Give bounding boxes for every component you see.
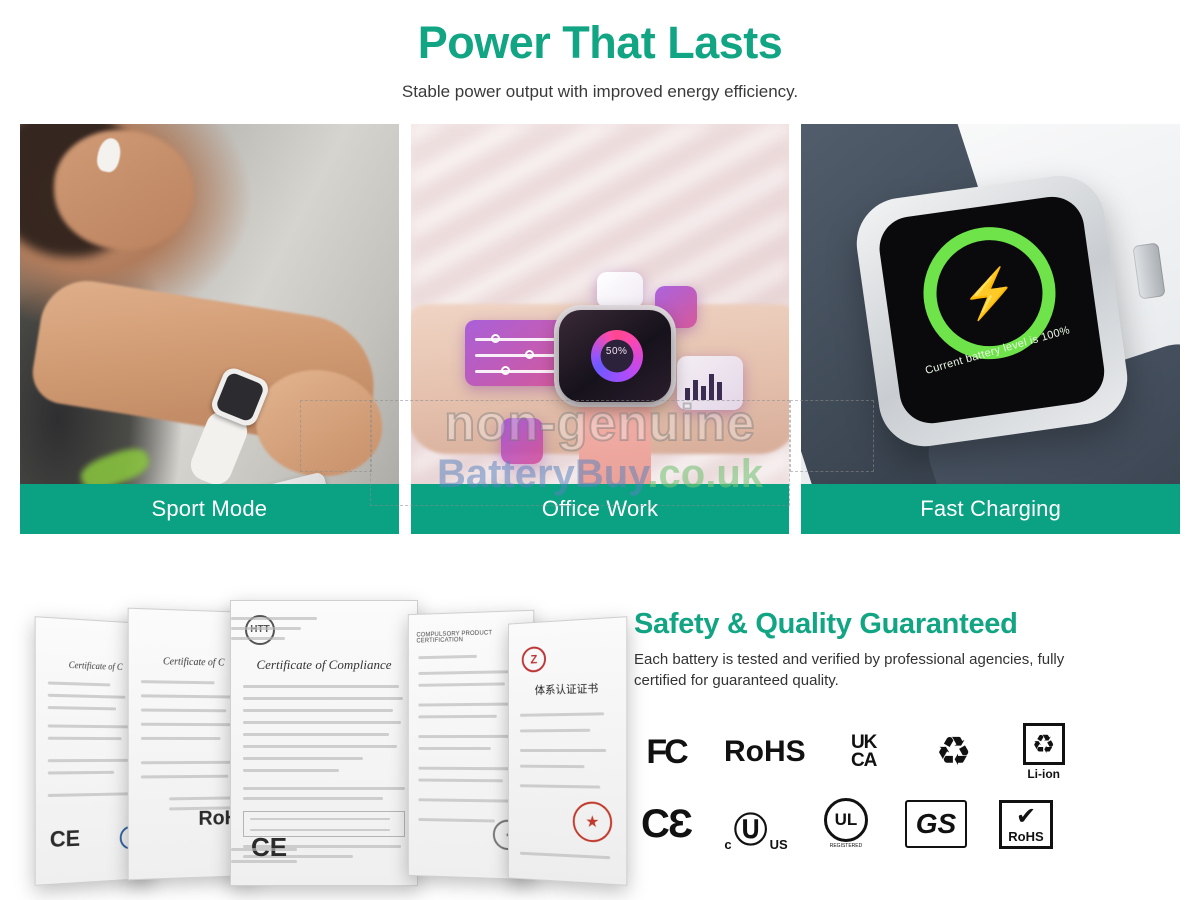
recycle-badge: ♻ bbox=[922, 724, 986, 780]
gs-mark: GS bbox=[905, 800, 967, 848]
safety-heading: Safety & Quality Guaranteed bbox=[634, 608, 1182, 641]
page-subtitle: Stable power output with improved energy… bbox=[0, 82, 1200, 102]
certificate-title: Certificate of Compliance bbox=[231, 657, 417, 673]
ul-registered-badge: UL REGISTERED bbox=[814, 796, 878, 852]
chart-bars bbox=[685, 374, 722, 400]
page-header: Power That Lasts Stable power output wit… bbox=[0, 0, 1200, 102]
certificate-title: 体系认证证书 bbox=[509, 678, 626, 697]
watermark-guide-box bbox=[370, 400, 790, 506]
settings-sliders-card bbox=[465, 320, 569, 386]
certificate-system-chinese[interactable]: Z 体系认证证书 ★ bbox=[508, 616, 627, 886]
certificate-compliance-main[interactable]: HTT Certificate of Compliance bbox=[230, 600, 418, 886]
ce-badge: CƐ bbox=[634, 796, 698, 852]
lower-section: Certificate of C CE e Certificate of C bbox=[0, 592, 1200, 892]
li-ion-recycle-badge: ♻ Li-ion bbox=[1012, 724, 1076, 780]
page-title: Power That Lasts bbox=[0, 18, 1200, 68]
watermark-guide-box bbox=[790, 400, 874, 472]
feature-card-label: Fast Charging bbox=[801, 484, 1180, 534]
feature-card-fast-charging[interactable]: ⚡ Current battery level is 100% Fast Cha… bbox=[801, 124, 1180, 534]
ul-caption: REGISTERED bbox=[824, 844, 868, 850]
recycle-icon: ♻ bbox=[1032, 731, 1055, 757]
recycle-icon: ♻ bbox=[936, 732, 972, 772]
feature-card-label: Sport Mode bbox=[20, 484, 399, 534]
cul-suffix: US bbox=[770, 837, 788, 852]
digital-crown bbox=[1132, 242, 1165, 299]
safety-description: Each battery is tested and verified by p… bbox=[634, 649, 1104, 693]
cul-us-badge: c Ⓤ US bbox=[724, 796, 788, 852]
certificate-gallery: Certificate of C CE e Certificate of C bbox=[18, 592, 618, 892]
gs-badge: GS bbox=[904, 796, 968, 852]
red-star-seal: ★ bbox=[573, 801, 612, 843]
rohs-badge: RoHS bbox=[724, 724, 806, 780]
lightning-bolt-icon: ⚡ bbox=[958, 266, 1021, 320]
ce-mark: CE bbox=[50, 825, 80, 853]
product-detail-page: Power That Lasts Stable power output wit… bbox=[0, 0, 1200, 900]
contact-card-icon bbox=[597, 272, 643, 308]
badge-row-2: CƐ c Ⓤ US UL REGISTERED GS bbox=[634, 788, 1182, 860]
face-shape bbox=[54, 130, 194, 250]
cul-prefix: c bbox=[724, 837, 731, 852]
smartwatch-device: ⚡ Current battery level is 100% bbox=[851, 169, 1133, 451]
check-icon: ✔ bbox=[1008, 805, 1043, 829]
issuer-logo: Z bbox=[522, 646, 546, 673]
watch-screen: ⚡ Current battery level is 100% bbox=[876, 192, 1109, 427]
ukca-bottom: CA bbox=[851, 752, 876, 770]
li-ion-label: Li-ion bbox=[1023, 767, 1065, 781]
fcc-badge: FC bbox=[634, 724, 698, 780]
ul-circle: UL bbox=[824, 798, 868, 842]
rohs-label: RoHS bbox=[1008, 829, 1043, 844]
li-ion-box: ♻ bbox=[1023, 723, 1065, 765]
ul-mark: Ⓤ bbox=[734, 803, 768, 852]
feature-card-sport-mode[interactable]: Sport Mode bbox=[20, 124, 399, 534]
battery-percent-value: 50% bbox=[591, 346, 643, 357]
ukca-badge: UK CA bbox=[832, 724, 896, 780]
fast-charging-photo: ⚡ Current battery level is 100% bbox=[801, 124, 1180, 534]
rohs-check-badge: ✔ RoHS bbox=[994, 796, 1058, 852]
certification-badges: FC RoHS UK CA ♻ ♻ bbox=[634, 716, 1182, 860]
safety-quality-panel: Safety & Quality Guaranteed Each battery… bbox=[618, 592, 1182, 892]
sport-mode-photo bbox=[20, 124, 399, 534]
watermark-guide-box bbox=[300, 400, 372, 472]
badge-row-1: FC RoHS UK CA ♻ ♻ bbox=[634, 716, 1182, 788]
